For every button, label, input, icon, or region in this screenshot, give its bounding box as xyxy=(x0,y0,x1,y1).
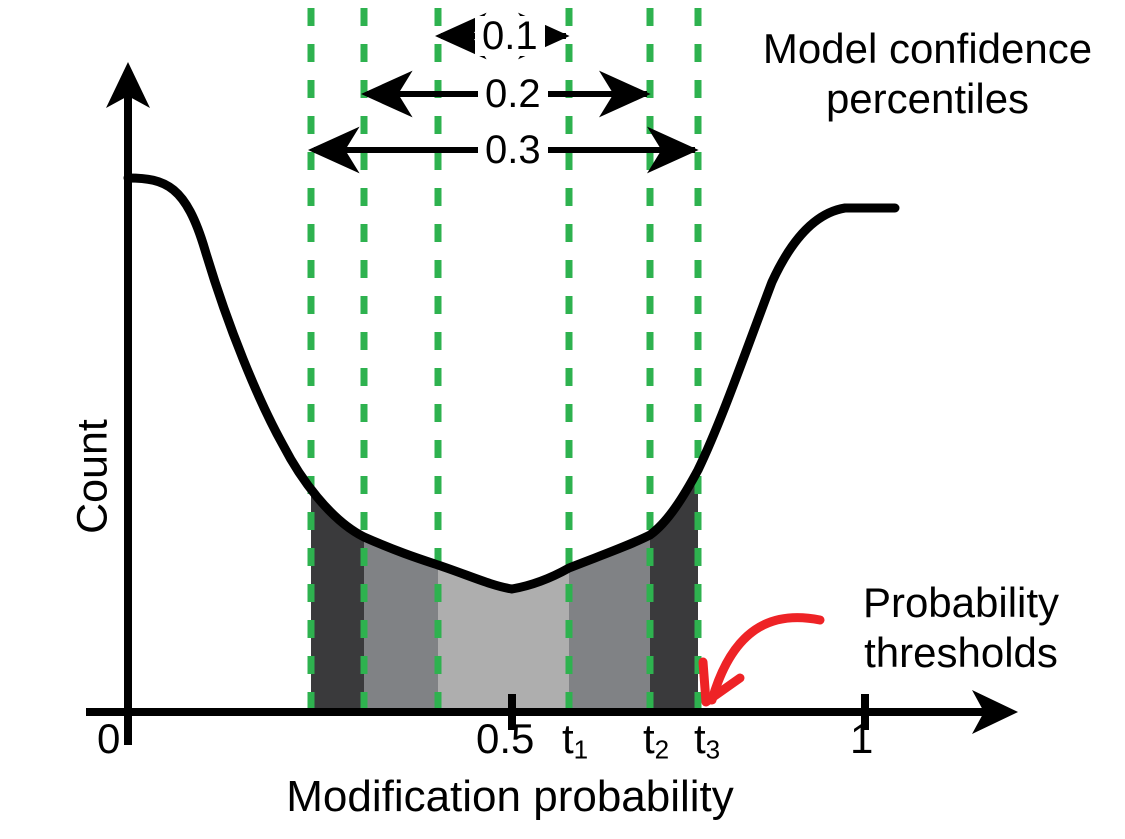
annotation-model-confidence-percentiles: Model confidence percentiles xyxy=(735,24,1120,123)
span-label-0.2: 0.2 xyxy=(478,74,548,114)
threshold-label-t2-subscript: 2 xyxy=(655,735,669,765)
threshold-label-t3: t3 xyxy=(694,718,720,763)
threshold-label-t1-subscript: 1 xyxy=(574,735,588,765)
threshold-label-t2-base: t xyxy=(643,715,655,762)
threshold-label-t1-base: t xyxy=(562,715,574,762)
x-tick-label-1: 1 xyxy=(850,718,873,760)
threshold-label-t2: t2 xyxy=(643,718,669,763)
y-axis-label: Count xyxy=(72,377,115,577)
x-tick-label-0.5: 0.5 xyxy=(476,718,534,760)
x-tick-label-0: 0 xyxy=(97,718,120,760)
x-axis-label: Modification probability xyxy=(180,775,840,819)
threshold-label-t3-subscript: 3 xyxy=(706,735,720,765)
span-label-0.1: 0.1 xyxy=(475,16,545,56)
plot-svg xyxy=(0,0,1125,839)
annotation-probability-thresholds: Probability thresholds xyxy=(800,578,1122,677)
threshold-label-t1: t1 xyxy=(562,718,588,763)
threshold-label-t3-base: t xyxy=(694,715,706,762)
figure-canvas: 0 0.5 1 t1 t2 t3 0.1 0.2 0.3 Count Modif… xyxy=(0,0,1125,839)
span-label-0.3: 0.3 xyxy=(478,130,548,170)
distribution-curve xyxy=(128,178,895,589)
